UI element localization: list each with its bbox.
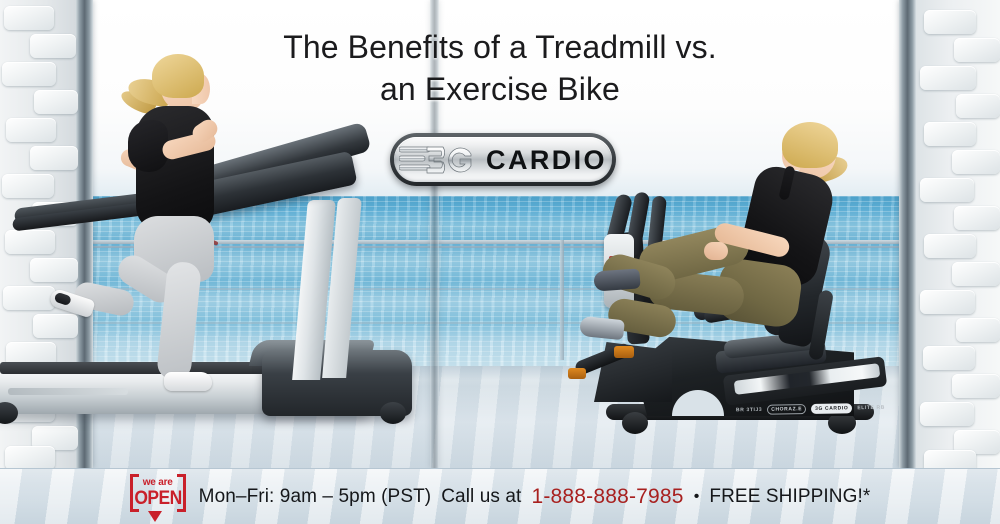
phone-number-link[interactable]: 1-888-888-7985 [531,485,683,509]
bike-pedal-far [568,368,586,379]
we-are-open-badge-icon: we are OPEN [130,474,186,520]
bike-decal-model-name: ELITE RB [857,404,885,410]
3g-mark-icon [399,145,473,175]
free-shipping-text: FREE SHIPPING!* [709,486,870,508]
rider-hair [782,122,838,168]
promo-banner: BR 3TIJ3 CHORAZ.E 3G CARDIO ELITE RB [0,0,1000,524]
call-us-label: Call us at [441,486,521,508]
contact-bar: we are OPEN Mon–Fri: 9am – 5pm (PST) Cal… [0,468,1000,524]
business-hours-text: Mon–Fri: 9am – 5pm (PST) [199,486,432,508]
separator-bullet: • [694,488,700,506]
rider-near-shoe [593,268,640,291]
contact-text-group: Mon–Fri: 9am – 5pm (PST) Call us at 1-88… [199,485,871,509]
logo-inner-plate: CARDIO [394,137,612,182]
contact-bar-content: we are OPEN Mon–Fri: 9am – 5pm (PST) Cal… [130,474,871,520]
rider-hand-on-grip [704,242,728,260]
open-badge-line-2: OPEN [132,488,184,510]
railing-post [560,240,564,360]
treadmill-foot-rear [380,402,406,424]
runner-front-shoe [164,372,212,391]
headline-line-2: an Exercise Bike [0,68,1000,110]
woman-riding-exercise-bike [596,122,856,422]
logo-wordmark: CARDIO [486,145,607,176]
treadmill-foot-front [0,402,18,424]
open-badge-line-1: we are [130,477,186,488]
open-badge-speech-tail [148,511,162,522]
headline-line-1: The Benefits of a Treadmill vs. [283,29,717,65]
banner-headline: The Benefits of a Treadmill vs. an Exerc… [0,26,1000,110]
3g-cardio-logo[interactable]: CARDIO [390,133,616,186]
